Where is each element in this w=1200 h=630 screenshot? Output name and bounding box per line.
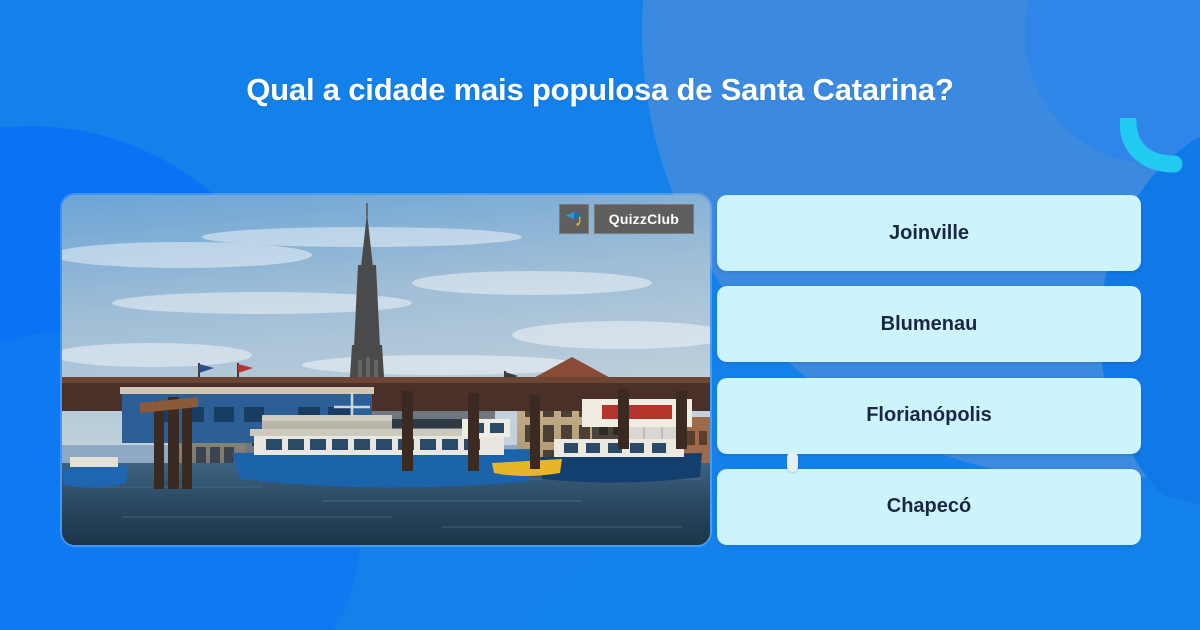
answer-option-1-label: Joinville — [889, 222, 969, 245]
swoosh-accent-icon — [1120, 118, 1192, 174]
watermark-brand-label: QuizzClub — [594, 204, 694, 234]
answer-option-4[interactable]: Chapecó — [717, 469, 1141, 545]
harbor-foreground — [62, 377, 710, 545]
question-title: Qual a cidade mais populosa de Santa Cat… — [0, 72, 1200, 108]
question-image-card: QuizzClub — [62, 195, 710, 545]
answer-option-2[interactable]: Blumenau — [717, 286, 1141, 362]
quiz-card: Qual a cidade mais populosa de Santa Cat… — [0, 0, 1200, 630]
watermark-badge: QuizzClub — [559, 204, 694, 234]
answer-option-2-label: Blumenau — [881, 313, 978, 336]
answer-options-list: Joinville Blumenau Florianópolis Chapecó — [717, 195, 1141, 545]
answer-option-3-label: Florianópolis — [866, 404, 992, 427]
graduation-cap-icon — [559, 204, 589, 234]
answer-option-3[interactable]: Florianópolis — [717, 378, 1141, 454]
answer-option-4-label: Chapecó — [887, 495, 971, 518]
scroll-thumb-marker[interactable] — [787, 452, 798, 472]
answer-option-1[interactable]: Joinville — [717, 195, 1141, 271]
